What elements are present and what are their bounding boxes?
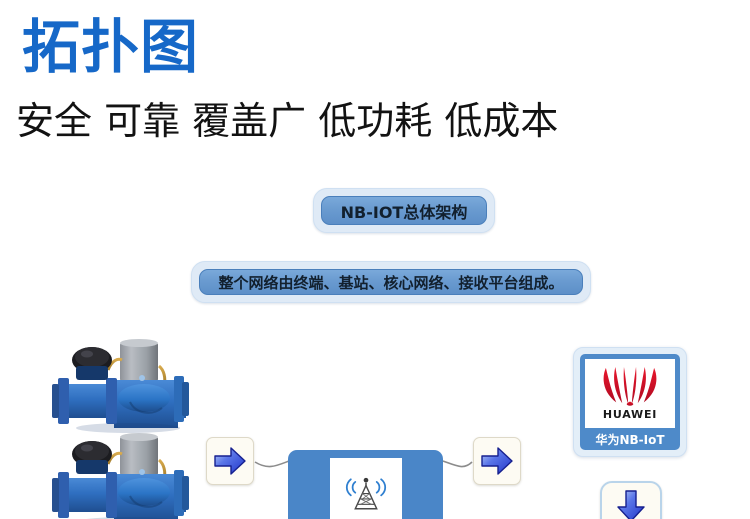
callout-architecture-label: NB-IOT总体架构	[341, 199, 468, 223]
water-meter-icon	[44, 430, 212, 519]
tile-download[interactable]	[600, 481, 662, 519]
topology-diagram-page: 拓扑图 安全 可靠 覆盖广 低功耗 低成本 NB-IOT总体架构 整个网络由终端…	[0, 0, 750, 519]
tile-arrow-right[interactable]	[473, 437, 521, 485]
connector-left	[255, 461, 289, 467]
callout-architecture: NB-IOT总体架构	[313, 188, 495, 233]
card-huawei-inner: HUAWEI 华为NB-IoT	[580, 354, 680, 450]
arrow-right-icon	[213, 446, 247, 476]
card-huawei-nbiot[interactable]: HUAWEI 华为NB-IoT	[573, 347, 687, 457]
page-subtitle: 安全 可靠 覆盖广 低功耗 低成本	[16, 100, 558, 144]
arrow-right-icon	[480, 446, 514, 476]
cell-tower-icon	[341, 467, 391, 513]
huawei-card-caption: 华为NB-IoT	[585, 428, 675, 450]
water-meter-device	[44, 430, 212, 519]
callout-description-label: 整个网络由终端、基站、核心网络、接收平台组成。	[218, 272, 563, 293]
callout-description-inner: 整个网络由终端、基站、核心网络、接收平台组成。	[199, 269, 583, 295]
node-base-station	[288, 450, 443, 519]
tile-arrow-left[interactable]	[206, 437, 254, 485]
base-station-plate	[330, 458, 402, 519]
callout-description: 整个网络由终端、基站、核心网络、接收平台组成。	[191, 261, 591, 303]
arrow-down-icon	[616, 489, 646, 519]
page-title: 拓扑图	[22, 18, 199, 76]
huawei-logo-plate: HUAWEI	[585, 359, 675, 428]
huawei-flower-logo	[599, 365, 661, 407]
callout-architecture-inner: NB-IOT总体架构	[321, 196, 487, 225]
huawei-wordmark: HUAWEI	[603, 408, 657, 421]
connector-right	[443, 461, 472, 467]
